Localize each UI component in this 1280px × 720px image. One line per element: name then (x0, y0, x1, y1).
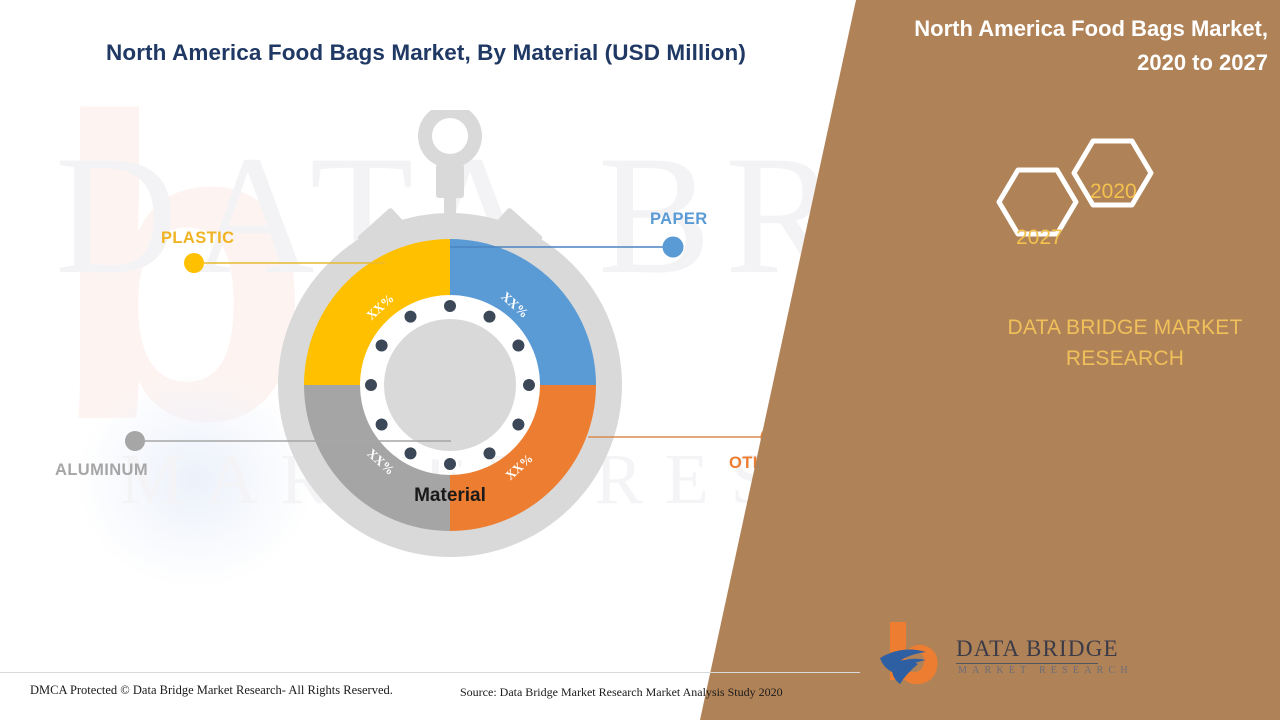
brand-name-line1: DATA BRIDGE MARKET (960, 312, 1280, 343)
right-panel-title-line2: 2020 to 2027 (886, 46, 1268, 80)
hexagon-2027-icon (999, 170, 1076, 234)
footer-source-note: Source: Data Bridge Market Research Mark… (460, 685, 783, 700)
brand-name-line2: RESEARCH (960, 343, 1280, 374)
right-panel-title: North America Food Bags Market, 2020 to … (886, 12, 1268, 80)
infographic-canvas: b DATA BRIDGE MARKET RESEARCH North Amer… (0, 0, 1280, 720)
footer-divider (0, 672, 860, 673)
brand-name: DATA BRIDGE MARKET RESEARCH (960, 312, 1280, 374)
logo-mark-icon (878, 618, 952, 688)
data-bridge-logo: DATA BRIDGE MARKET RESEARCH (878, 618, 1110, 690)
badge-year-2020: 2020 (1090, 180, 1137, 204)
logo-divider (956, 663, 1098, 664)
badge-year-2027: 2027 (1016, 226, 1063, 250)
logo-name: DATA BRIDGE (956, 636, 1119, 662)
year-badges-svg (985, 136, 1175, 266)
footer-dmca-notice: DMCA Protected © Data Bridge Market Rese… (30, 683, 393, 698)
right-panel-title-line1: North America Food Bags Market, (886, 12, 1268, 46)
logo-tagline: MARKET RESEARCH (958, 665, 1133, 676)
year-badges: 2020 2027 (985, 136, 1175, 266)
